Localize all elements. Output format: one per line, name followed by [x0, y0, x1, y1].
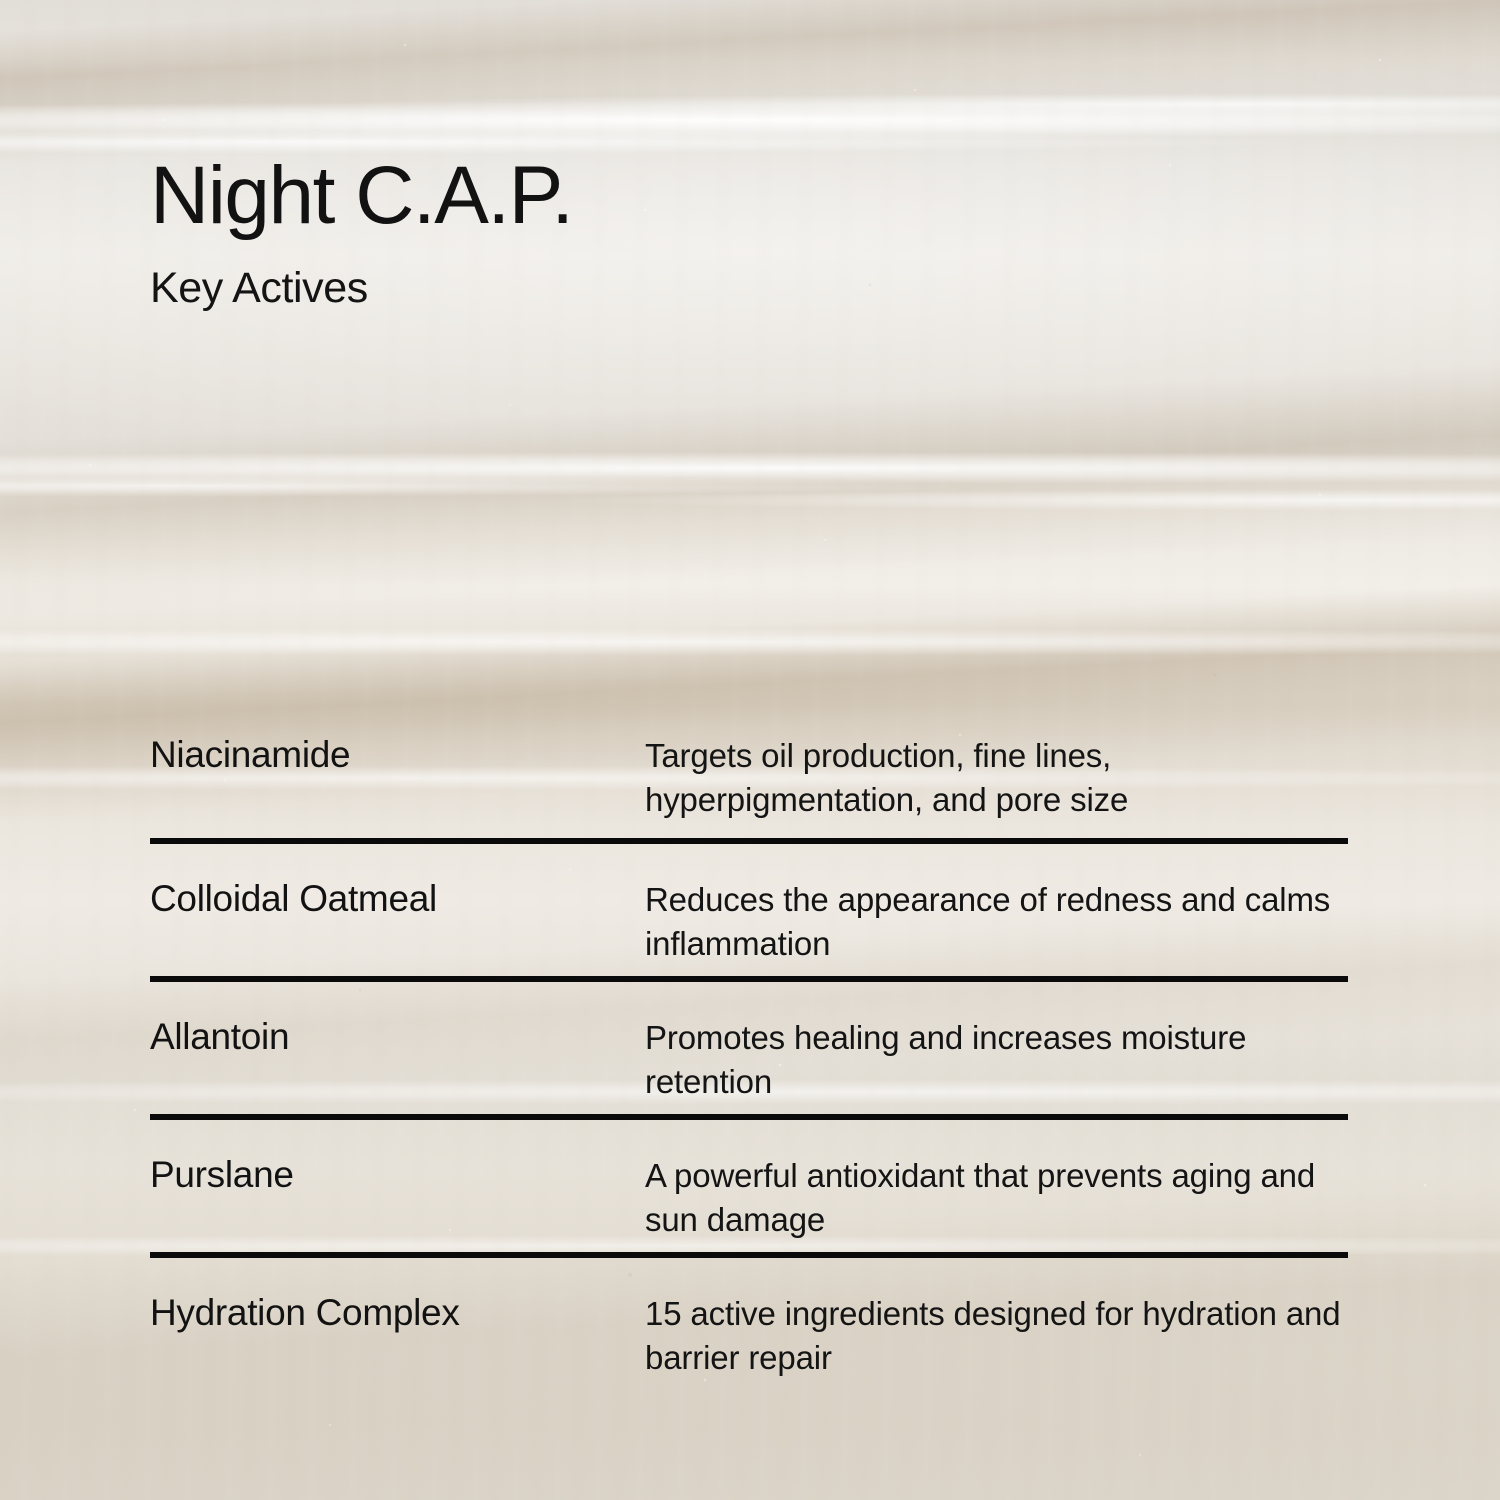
- active-ingredient-name: Allantoin: [150, 1000, 645, 1059]
- table-row: Allantoin Promotes healing and increases…: [150, 976, 1348, 1114]
- section-subtitle: Key Actives: [150, 237, 573, 310]
- active-ingredient-description: Targets oil production, fine lines, hype…: [645, 718, 1348, 822]
- active-ingredient-name: Purslane: [150, 1138, 645, 1197]
- product-title: Night C.A.P.: [150, 155, 573, 237]
- table-row: Hydration Complex 15 active ingredients …: [150, 1252, 1348, 1390]
- table-row: Niacinamide Targets oil production, fine…: [150, 700, 1348, 838]
- product-key-actives-card: Night C.A.P. Key Actives Niacinamide Tar…: [0, 0, 1500, 1500]
- active-ingredient-description: A powerful antioxidant that prevents agi…: [645, 1138, 1348, 1242]
- active-ingredient-description: Reduces the appearance of redness and ca…: [645, 862, 1348, 966]
- active-ingredient-name: Niacinamide: [150, 718, 645, 777]
- active-ingredient-name: Hydration Complex: [150, 1276, 645, 1335]
- table-row: Purslane A powerful antioxidant that pre…: [150, 1114, 1348, 1252]
- card-header: Night C.A.P. Key Actives: [150, 155, 573, 310]
- key-actives-table: Niacinamide Targets oil production, fine…: [150, 700, 1348, 1390]
- card-content: Night C.A.P. Key Actives Niacinamide Tar…: [0, 0, 1500, 1500]
- active-ingredient-description: Promotes healing and increases moisture …: [645, 1000, 1348, 1104]
- active-ingredient-name: Colloidal Oatmeal: [150, 862, 645, 921]
- active-ingredient-description: 15 active ingredients designed for hydra…: [645, 1276, 1348, 1380]
- table-row: Colloidal Oatmeal Reduces the appearance…: [150, 838, 1348, 976]
